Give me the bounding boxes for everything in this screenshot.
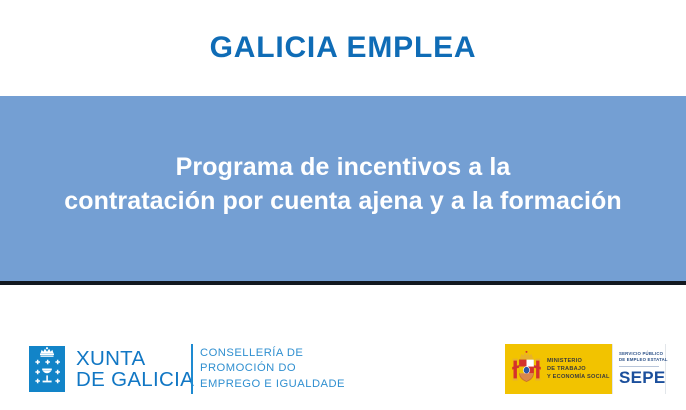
sepe-wordmark: SEPE	[619, 369, 659, 386]
conselleria-line-1: CONSELLERÍA DE	[200, 346, 345, 361]
xunta-de-galicia-logo: XUNTA DE GALICIA	[29, 346, 194, 392]
banner-text-block: Programa de incentivos a la contratación…	[0, 151, 686, 227]
conselleria-line-3: EMPREGO E IGUALDADE	[200, 377, 345, 392]
page-title: GALICIA EMPLEA	[210, 33, 477, 63]
logo-divider	[191, 344, 193, 394]
ministerio-line-3: Y ECONOMÍA SOCIAL	[547, 373, 610, 381]
xunta-wordmark-line-1: XUNTA	[76, 348, 194, 369]
xunta-coat-of-arms-icon	[29, 346, 65, 392]
spain-coat-of-arms-icon	[511, 350, 542, 388]
header-band: GALICIA EMPLEA	[0, 0, 686, 96]
ministerio-wordmark: MINISTERIO DE TRABAJO Y ECONOMÍA SOCIAL	[547, 357, 610, 382]
footer-logo-strip: XUNTA DE GALICIA CONSELLERÍA DE PROMOCIÓ…	[0, 289, 686, 410]
ministerio-line-2: DE TRABAJO	[547, 365, 610, 373]
ministerio-logo: MINISTERIO DE TRABAJO Y ECONOMÍA SOCIAL	[505, 344, 612, 394]
banner-line-1: Programa de incentivos a la	[0, 151, 686, 185]
sepe-subtitle-line-2: DE EMPLEO ESTATAL	[619, 357, 659, 363]
sepe-rule	[619, 366, 659, 367]
xunta-wordmark: XUNTA DE GALICIA	[76, 348, 194, 391]
conselleria-line-2: PROMOCIÓN DO	[200, 361, 345, 376]
sepe-logo: SERVICIO PÚBLICO DE EMPLEO ESTATAL SEPE	[612, 344, 666, 394]
banner-line-2: contratación por cuenta ajena y a la for…	[0, 185, 686, 219]
ministerio-line-1: MINISTERIO	[547, 357, 610, 365]
xunta-wordmark-line-2: DE GALICIA	[76, 369, 194, 390]
program-banner: Programa de incentivos a la contratación…	[0, 96, 686, 285]
conselleria-block: CONSELLERÍA DE PROMOCIÓN DO EMPREGO E IG…	[200, 346, 345, 392]
